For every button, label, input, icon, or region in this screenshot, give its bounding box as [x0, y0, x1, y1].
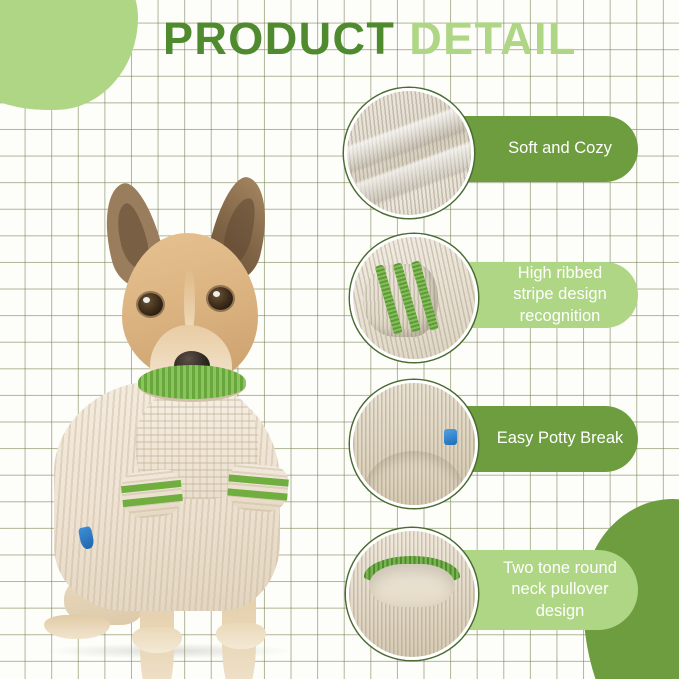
sweater-sleeve-back — [226, 462, 290, 513]
hero-dog-image — [18, 175, 318, 665]
title-word-detail: DETAIL — [409, 13, 577, 64]
feature-thumbnail-4 — [346, 528, 478, 660]
feature-thumbnail-3 — [350, 380, 478, 508]
dog-eye-left — [138, 293, 163, 316]
page-title: PRODUCT DETAIL — [163, 16, 577, 61]
sweater-green-collar — [138, 365, 246, 402]
title-word-product: PRODUCT — [163, 13, 395, 64]
dog-rear-paw — [44, 615, 110, 639]
neck-opening — [369, 564, 455, 607]
product-detail-infographic: PRODUCT DETAIL — [0, 0, 679, 679]
feature-thumbnail-2 — [350, 234, 478, 362]
brand-tag-blue — [444, 429, 457, 445]
dog-eye-right — [208, 287, 233, 310]
feature-thumbnail-1 — [344, 88, 474, 218]
